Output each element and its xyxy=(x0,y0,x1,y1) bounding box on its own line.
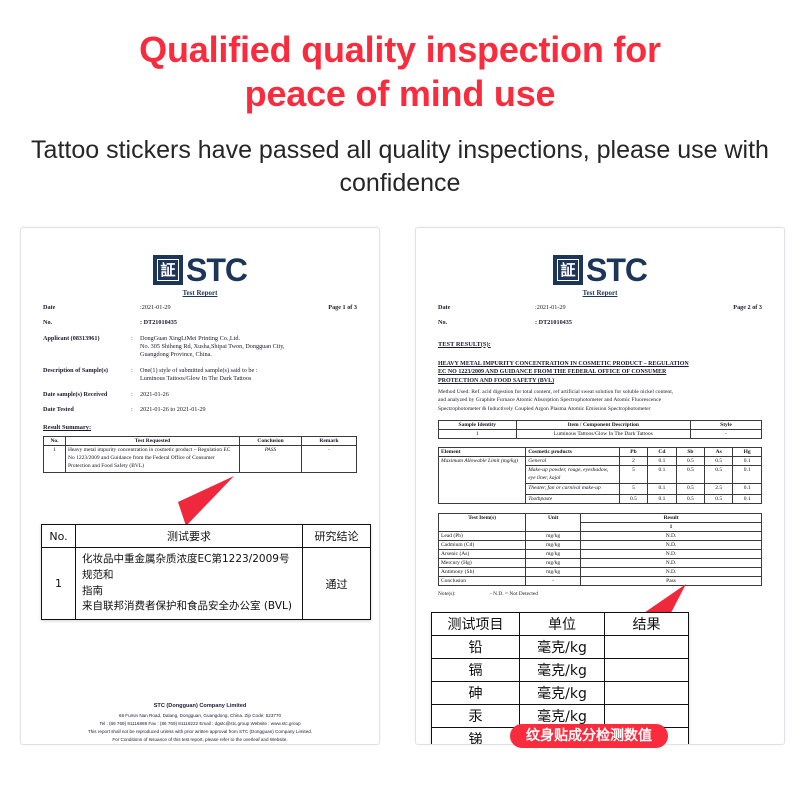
received-value: 2021-01-26 xyxy=(140,391,357,399)
td-unit: mg/kg xyxy=(526,532,581,541)
table-row: 1 化妆品中重金属杂质浓度EC第1223/2009号规范和 指南 来自联邦消费者… xyxy=(42,548,371,620)
th-cn-no: No. xyxy=(42,525,76,548)
td-product: Make-up powder, rouge, eyeshadow, eye li… xyxy=(526,465,620,483)
td-sample-identity: 1 xyxy=(439,429,517,438)
td-limit-group-label: Maximum Allowable Limit (mg/kg) xyxy=(439,456,526,503)
td-test-item: Arsenic (As) xyxy=(439,550,526,559)
method-heading-line: EC NO 1223/2009 AND GUIDANCE FROM THE FE… xyxy=(438,368,762,377)
td-result: N.D. xyxy=(581,541,762,550)
method-body: Method Used: Ref. acid digestion for tot… xyxy=(438,388,762,413)
test-report-subtitle: Test Report xyxy=(21,289,379,297)
td-as: 0.5 xyxy=(705,465,733,483)
note-label: Note(s): xyxy=(438,591,490,597)
table-row: 1 Luminous Tattoos/Glow In The Dark Tatt… xyxy=(439,429,762,438)
th-cn-result: 结果 xyxy=(605,613,689,636)
th-as: As xyxy=(705,447,733,456)
th-unit: Unit xyxy=(526,514,581,532)
td-hg: 0.1 xyxy=(733,484,762,495)
date-row: Date :2021-01-29 Page 1 of 3 xyxy=(43,304,357,312)
td-test-requested: Heavy metal impurity concentration in co… xyxy=(66,446,240,473)
td-cd: 0.1 xyxy=(648,465,677,483)
document-footer: STC (Dongguan) Company Limited 68 Fumin … xyxy=(21,702,379,744)
th-style: Style xyxy=(690,420,761,429)
sample-identity-table: Sample Identity Item / Component Descrip… xyxy=(438,420,762,439)
report-no-value: : DT21010435 xyxy=(140,319,177,327)
td-cn-test-item: 汞 xyxy=(432,705,520,728)
cn-summary-table: No. 测试要求 研究结论 1 化妆品中重金属杂质浓度EC第1223/2009号… xyxy=(41,524,371,620)
td-pb: 0.5 xyxy=(619,495,647,504)
td-unit: mg/kg xyxy=(526,541,581,550)
method-body-line: Method Used: Ref. acid digestion for tot… xyxy=(438,388,762,396)
td-cd: 0.1 xyxy=(648,495,677,504)
td-product: General xyxy=(526,456,620,465)
th-sample-identity: Sample Identity xyxy=(439,420,517,429)
td-result: N.D. xyxy=(581,550,762,559)
th-no: No. xyxy=(44,437,66,446)
table-row: Conclusion - Pass xyxy=(439,577,762,586)
test-result-table: Test Item(s) Unit Result 1 Lead (Pb) mg/… xyxy=(438,513,762,586)
td-cn-test-item: 砷 xyxy=(432,682,520,705)
th-item-description: Item / Component Description xyxy=(516,420,690,429)
description-line: One(1) style of submitted sample(s) said… xyxy=(140,367,357,375)
stc-logo: 証 STC xyxy=(416,254,784,286)
note-row: Note(s): - N.D. = Not Detected xyxy=(438,591,762,597)
td-unit: mg/kg xyxy=(526,550,581,559)
method-heading-line: HEAVY METAL IMPURITY CONCENTRATION IN CO… xyxy=(438,360,762,369)
page-number: Page 2 of 3 xyxy=(733,304,762,312)
td-as: 2.5 xyxy=(705,484,733,495)
td-result: N.D. xyxy=(581,568,762,577)
page-subheadline: Tattoo stickers have passed all quality … xyxy=(26,134,774,199)
td-conclusion: PASS xyxy=(240,446,302,473)
th-cd: Cd xyxy=(648,447,677,456)
date-label: Date xyxy=(43,304,131,312)
applicant-line: No. 305 Shiheng Rd, Xusha,Shipai Twon, D… xyxy=(140,343,357,351)
tested-row: Date Tested : 2021-01-26 to 2021-01-29 xyxy=(43,406,357,414)
table-row: 镉 毫克/kg xyxy=(432,659,689,682)
th-cn-unit: 单位 xyxy=(520,613,605,636)
footer-address: 68 Fumin Nan Road, Dalang, Dongguan, Gua… xyxy=(21,712,379,720)
table-row: Mercury (Hg) mg/kg N.D. xyxy=(439,559,762,568)
note-value: - N.D. = Not Detected xyxy=(490,591,538,597)
td-unit: mg/kg xyxy=(526,568,581,577)
td-test-item: Lead (Pb) xyxy=(439,532,526,541)
table-row: Arsenic (As) mg/kg N.D. xyxy=(439,550,762,559)
th-remark: Remark xyxy=(302,437,357,446)
td-hg: 0.1 xyxy=(733,465,762,483)
table-row: 砷 毫克/kg xyxy=(432,682,689,705)
cn-requirement-line: 指南 xyxy=(82,584,296,600)
certificate-page-1: 証 STC Test Report Date :2021-01-29 Page … xyxy=(20,227,380,745)
th-cn-test-item: 测试项目 xyxy=(432,613,520,636)
td-pb: 5 xyxy=(619,484,647,495)
applicant-label: Applicant (08313961) xyxy=(43,335,131,360)
th-test-item: Test Item(s) xyxy=(439,514,526,532)
td-sb: 0.5 xyxy=(676,456,704,465)
td-test-item: Mercury (Hg) xyxy=(439,559,526,568)
date-value: :2021-01-29 xyxy=(535,304,566,312)
td-cn-requirement: 化妆品中重金属杂质浓度EC第1223/2009号规范和 指南 来自联邦消费者保护… xyxy=(76,548,303,620)
headline-line-2: peace of mind use xyxy=(0,72,800,116)
page-number: Page 1 of 3 xyxy=(328,304,357,312)
td-cn-test-item: 铅 xyxy=(432,636,520,659)
date-row: Date :2021-01-29 Page 2 of 3 xyxy=(438,304,762,312)
td-remark: - xyxy=(302,446,357,473)
td-hg: 0.1 xyxy=(733,456,762,465)
stc-logo-wordmark: STC xyxy=(186,254,247,286)
th-cn-conclusion: 研究结论 xyxy=(303,525,371,548)
page-root: Qualified quality inspection for peace o… xyxy=(0,0,800,800)
report-no-value: : DT21010435 xyxy=(535,319,572,327)
td-cn-result xyxy=(605,659,689,682)
test-results-title: TEST RESULT(S): xyxy=(438,341,762,348)
td-no: 1 xyxy=(44,446,66,473)
table-header-row: Sample Identity Item / Component Descrip… xyxy=(439,420,762,429)
table-header-row: Test Item(s) Unit Result xyxy=(439,514,762,523)
table-row: Lead (Pb) mg/kg N.D. xyxy=(439,532,762,541)
td-cn-no: 1 xyxy=(42,548,76,620)
td-pb: 2 xyxy=(619,456,647,465)
red-arrow-icon xyxy=(176,476,236,528)
description-label: Description of Sample(s) xyxy=(43,367,131,384)
td-style: - xyxy=(690,429,761,438)
td-cd: 0.1 xyxy=(648,456,677,465)
th-cosmetic-products: Cosmetic products xyxy=(526,447,620,456)
report-no-row: No. : DT21010435 xyxy=(43,319,357,327)
stc-logo-wordmark: STC xyxy=(586,254,647,286)
td-product: Toothpaste xyxy=(526,495,620,504)
th-cn-requirement: 测试要求 xyxy=(76,525,303,548)
method-body-line: Spectrophotometer & Inductively Coupled … xyxy=(438,405,762,413)
certificate-page-2: 証 STC Test Report Date :2021-01-29 Page … xyxy=(415,227,785,745)
table-row: Antimony (Sb) mg/kg N.D. xyxy=(439,568,762,577)
description-row: Description of Sample(s) : One(1) style … xyxy=(43,367,357,384)
date-value: :2021-01-29 xyxy=(140,304,171,312)
stc-logo: 証 STC xyxy=(21,254,379,286)
method-heading: HEAVY METAL IMPURITY CONCENTRATION IN CO… xyxy=(438,360,762,386)
method-body-line: and analyzed by Graphite Furnace Atomic … xyxy=(438,396,762,404)
th-pb: Pb xyxy=(619,447,647,456)
stc-logo-mark-icon: 証 xyxy=(153,255,183,285)
th-sb: Sb xyxy=(676,447,704,456)
td-cn-result xyxy=(605,636,689,659)
applicant-row: Applicant (08313961) : DongGuan XingLiMe… xyxy=(43,335,357,360)
th-hg: Hg xyxy=(733,447,762,456)
th-conclusion: Conclusion xyxy=(240,437,302,446)
applicant-line: DongGuan XingLiMei Printing Co.,Ltd. xyxy=(140,335,357,343)
table-row: Maximum Allowable Limit (mg/kg) General … xyxy=(439,456,762,465)
right-caption-pill: 纹身贴成分检测数值 xyxy=(510,724,668,748)
td-cn-unit: 毫克/kg xyxy=(520,682,605,705)
report-no-label: No. xyxy=(438,319,526,327)
td-test-item: Conclusion xyxy=(439,577,526,586)
table-row: 1 Heavy metal impurity concentration in … xyxy=(44,446,357,473)
footer-contacts: Tel : (86 769) 81116888 Fax : (86 769) 8… xyxy=(21,720,379,728)
td-pb: 5 xyxy=(619,465,647,483)
description-line: Luminous Tattoos/Glow In The Dark Tattoo… xyxy=(140,375,357,383)
method-heading-line: PROTECTION AND FOOD SAFETY (BVL) xyxy=(438,377,762,386)
footer-company: STC (Dongguan) Company Limited xyxy=(21,702,379,712)
report-no-label: No. xyxy=(43,319,131,327)
th-element: Element xyxy=(439,447,526,456)
td-item-description: Luminous Tattoos/Glow In The Dark Tattoo… xyxy=(516,429,690,438)
result-summary-title: Result Summary: xyxy=(43,424,357,431)
table-header-row: Element Cosmetic products Pb Cd Sb As Hg xyxy=(439,447,762,456)
report-no-row: No. : DT21010435 xyxy=(438,319,762,327)
td-test-item: Cadmium (Cd) xyxy=(439,541,526,550)
table-row: Cadmium (Cd) mg/kg N.D. xyxy=(439,541,762,550)
td-hg: 0.1 xyxy=(733,495,762,504)
td-unit: - xyxy=(526,577,581,586)
allowable-limit-table: Element Cosmetic products Pb Cd Sb As Hg… xyxy=(438,447,762,504)
cn-requirement-line: 来自联邦消费者保护和食品安全办公室 (BVL) xyxy=(82,599,296,615)
td-result: N.D. xyxy=(581,532,762,541)
td-as: 0.5 xyxy=(705,495,733,504)
th-result: Result xyxy=(581,514,762,523)
th-test-requested: Test Requested xyxy=(66,437,240,446)
table-header-row: No. 测试要求 研究结论 xyxy=(42,525,371,548)
table-header-row: 测试项目 单位 结果 xyxy=(432,613,689,636)
tested-label: Date Tested xyxy=(43,406,131,414)
td-product: Theater, fan or carnival make-up xyxy=(526,484,620,495)
td-result: N.D. xyxy=(581,559,762,568)
th-result-sample: 1 xyxy=(581,523,762,532)
page-headline: Qualified quality inspection for peace o… xyxy=(0,28,800,116)
td-cn-unit: 毫克/kg xyxy=(520,659,605,682)
td-sb: 0.5 xyxy=(676,465,704,483)
stc-logo-glyph: 証 xyxy=(160,263,175,278)
stc-logo-mark-icon: 証 xyxy=(553,255,583,285)
td-cn-unit: 毫克/kg xyxy=(520,636,605,659)
applicant-line: Guangdong Province, China. xyxy=(140,351,357,359)
date-label: Date xyxy=(438,304,526,312)
footer-notice-2: For Conditions of Issuance of this test … xyxy=(21,736,379,744)
td-cd: 0.1 xyxy=(648,484,677,495)
td-cn-test-item: 镉 xyxy=(432,659,520,682)
received-label: Date sample(s) Received xyxy=(43,391,131,399)
cn-requirement-line: 化妆品中重金属杂质浓度EC第1223/2009号规范和 xyxy=(82,552,296,584)
footer-notice-1: This report shall not be reproduced unle… xyxy=(21,728,379,736)
tested-value: 2021-01-26 to 2021-01-29 xyxy=(140,406,357,414)
td-as: 0.5 xyxy=(705,456,733,465)
stc-logo-glyph: 証 xyxy=(560,263,575,278)
headline-line-1: Qualified quality inspection for xyxy=(0,28,800,72)
td-sb: 0.5 xyxy=(676,495,704,504)
td-test-item: Antimony (Sb) xyxy=(439,568,526,577)
table-row: 铅 毫克/kg xyxy=(432,636,689,659)
td-sb: 0.5 xyxy=(676,484,704,495)
received-row: Date sample(s) Received : 2021-01-26 xyxy=(43,391,357,399)
td-cn-test-item: 锑 xyxy=(432,728,520,746)
td-cn-conclusion: 通过 xyxy=(303,548,371,620)
test-report-subtitle: Test Report xyxy=(416,289,784,297)
td-unit: mg/kg xyxy=(526,559,581,568)
td-cn-result xyxy=(605,682,689,705)
result-summary-table: No. Test Requested Conclusion Remark 1 H… xyxy=(43,436,357,473)
table-header-row: No. Test Requested Conclusion Remark xyxy=(44,437,357,446)
